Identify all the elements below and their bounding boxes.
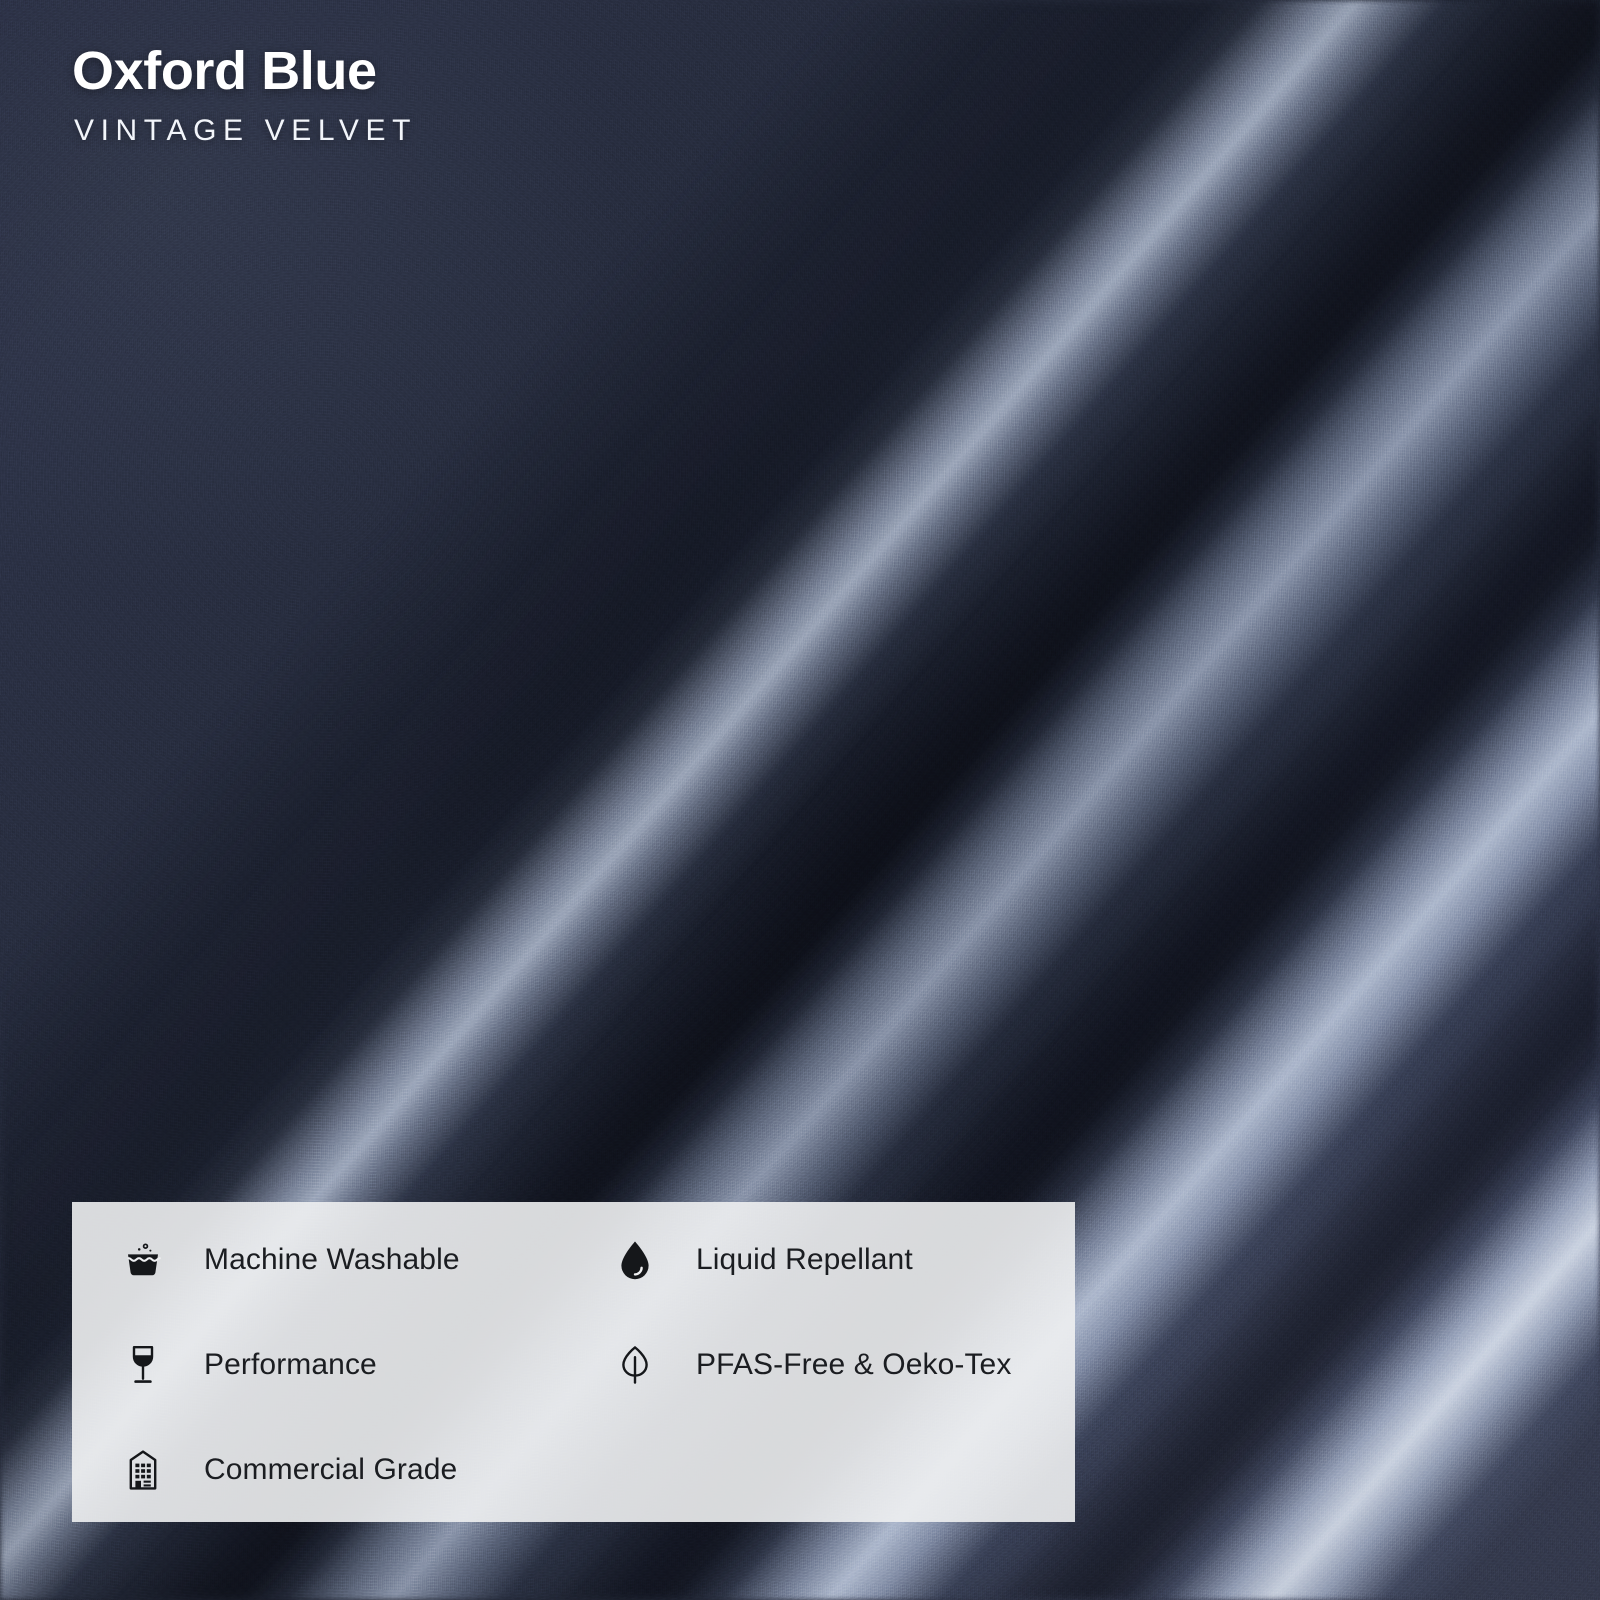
leaf-icon — [612, 1342, 658, 1388]
feature-label: Machine Washable — [204, 1243, 460, 1277]
fabric-swatch-card: Oxford Blue VINTAGE VELVET Machine Washa… — [0, 0, 1600, 1600]
feature-performance: Performance — [72, 1313, 564, 1418]
feature-label: PFAS-Free & Oeko-Tex — [696, 1348, 1011, 1382]
feature-liquid-repellant: Liquid Repellant — [564, 1208, 1056, 1313]
feature-label: Liquid Repellant — [696, 1243, 913, 1277]
page-title: Oxford Blue — [72, 42, 417, 100]
wine-glass-icon — [120, 1342, 166, 1388]
feature-commercial-grade: Commercial Grade — [72, 1417, 564, 1522]
product-header: Oxford Blue VINTAGE VELVET — [72, 42, 417, 148]
water-droplet-icon — [612, 1237, 658, 1283]
product-subtitle: VINTAGE VELVET — [74, 114, 417, 148]
feature-panel: Machine Washable Liquid Repellant — [72, 1202, 1075, 1522]
feature-label: Performance — [204, 1348, 377, 1382]
feature-pfas-free-oeko-tex: PFAS-Free & Oeko-Tex — [564, 1313, 1056, 1418]
washing-basin-icon — [120, 1237, 166, 1283]
feature-label: Commercial Grade — [204, 1453, 457, 1487]
feature-machine-washable: Machine Washable — [72, 1208, 564, 1313]
building-icon — [120, 1447, 166, 1493]
